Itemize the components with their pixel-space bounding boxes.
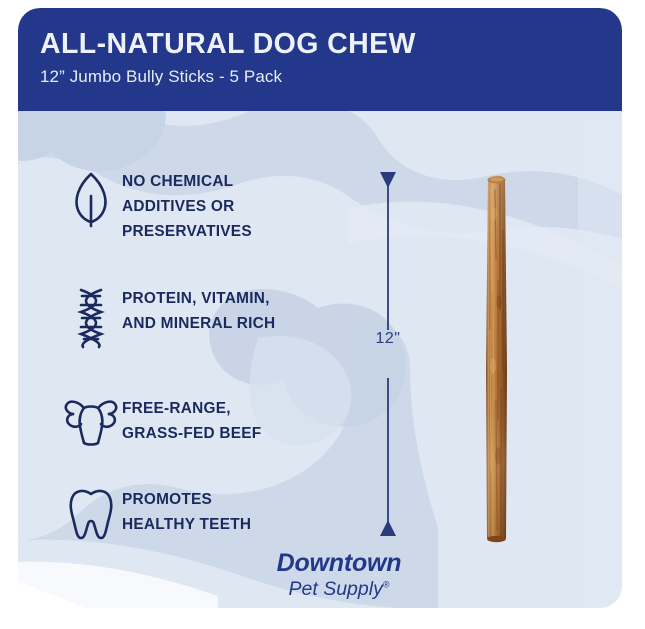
feature-text: PROTEIN, VITAMIN, AND MINERAL RICH xyxy=(122,285,275,336)
feature-item-free-range-grass-fed: FREE-RANGE, GRASS-FED BEEF xyxy=(60,395,340,457)
leaf-icon xyxy=(60,168,122,228)
page-subtitle: 12” Jumbo Bully Sticks - 5 Pack xyxy=(40,67,622,87)
feature-item-no-chemical-additives: NO CHEMICAL ADDITIVES OR PRESERVATIVES xyxy=(60,168,340,244)
cow-head-icon xyxy=(60,395,122,447)
feature-item-promotes-healthy-teeth: PROMOTES HEALTHY TEETH xyxy=(60,486,340,548)
header-banner: ALL-NATURAL DOG CHEW 12” Jumbo Bully Sti… xyxy=(18,8,622,111)
feature-item-protein-vitamin-mineral: PROTEIN, VITAMIN, AND MINERAL RICH xyxy=(60,285,340,349)
feature-list: NO CHEMICAL ADDITIVES OR PRESERVATIVES xyxy=(60,168,340,548)
feature-text: FREE-RANGE, GRASS-FED BEEF xyxy=(122,395,261,446)
logo-line-pet-supply: Pet Supply® xyxy=(224,580,454,600)
dna-helix-icon xyxy=(60,285,122,349)
bully-stick-product-image xyxy=(467,170,537,550)
feature-line: GRASS-FED BEEF xyxy=(122,421,261,446)
measurement-label: 12" xyxy=(362,330,414,348)
double-headed-arrow-icon xyxy=(362,170,422,538)
feature-line: FREE-RANGE, xyxy=(122,396,261,421)
feature-text: NO CHEMICAL ADDITIVES OR PRESERVATIVES xyxy=(122,168,252,244)
registered-trademark-mark: ® xyxy=(383,580,390,590)
page-title: ALL-NATURAL DOG CHEW xyxy=(40,30,622,60)
tooth-icon xyxy=(60,486,122,542)
logo-line-downtown: Downtown xyxy=(224,551,454,576)
feature-line: PRESERVATIVES xyxy=(122,219,252,244)
logo-pet-supply-text: Pet Supply xyxy=(289,578,383,600)
feature-line: NO CHEMICAL xyxy=(122,169,252,194)
feature-line: ADDITIVES OR xyxy=(122,194,252,219)
brand-logo: Downtown Pet Supply® xyxy=(224,551,454,600)
feature-text: PROMOTES HEALTHY TEETH xyxy=(122,486,251,537)
measurement-indicator: 12" xyxy=(362,170,422,538)
feature-line: PROTEIN, VITAMIN, xyxy=(122,286,275,311)
infographic-card: ALL-NATURAL DOG CHEW 12” Jumbo Bully Sti… xyxy=(18,8,622,608)
product-infographic: ALL-NATURAL DOG CHEW 12” Jumbo Bully Sti… xyxy=(0,0,645,629)
feature-line: AND MINERAL RICH xyxy=(122,311,275,336)
feature-line: PROMOTES xyxy=(122,487,251,512)
feature-line: HEALTHY TEETH xyxy=(122,512,251,537)
